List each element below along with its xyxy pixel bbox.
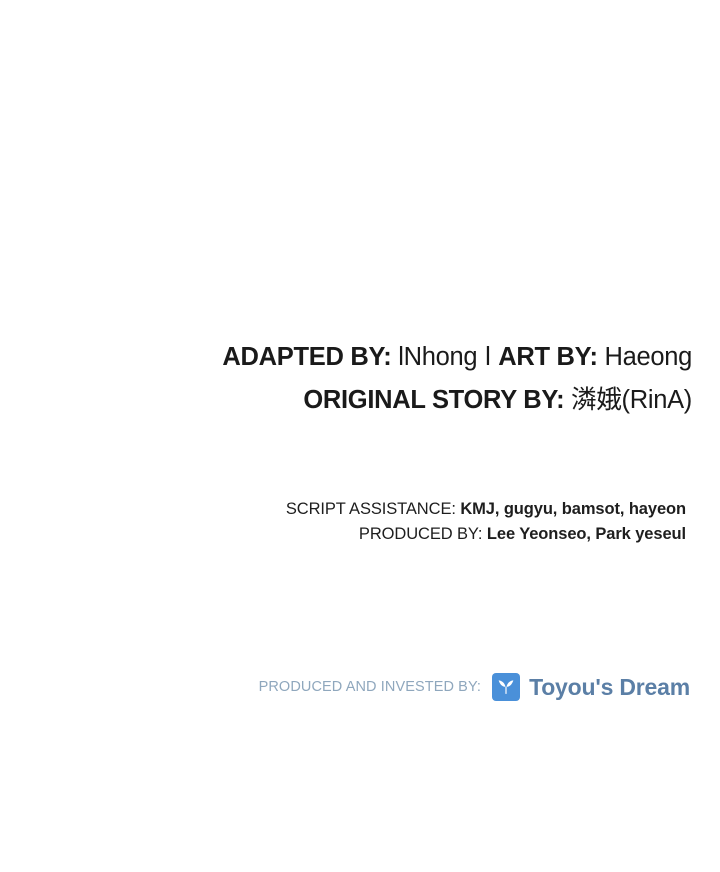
credit-separator: l (484, 343, 491, 371)
art-by-label: ART BY: (498, 343, 597, 371)
credit-line-script-assistance: SCRIPT ASSISTANCE: KMJ, gugyu, bamsot, h… (0, 497, 686, 522)
original-story-by-label: ORIGINAL STORY BY: (303, 386, 564, 414)
sub-credits-block: SCRIPT ASSISTANCE: KMJ, gugyu, bamsot, h… (0, 497, 686, 547)
credits-page: ADAPTED BY: lNhong l ART BY: Haeong ORIG… (0, 0, 720, 872)
art-by-value: Haeong (604, 343, 692, 371)
adapted-by-label: ADAPTED BY: (222, 343, 391, 371)
whale-tail-icon (492, 673, 520, 701)
investor-footer: PRODUCED AND INVESTED BY: Toyou's Dream (0, 673, 690, 701)
script-assistance-value: KMJ, gugyu, bamsot, hayeon (460, 500, 686, 518)
adapted-by-value: lNhong (398, 343, 477, 371)
produced-by-label: PRODUCED BY: (359, 525, 483, 543)
original-story-by-value: 潾娥(RinA) (571, 386, 692, 414)
script-assistance-label: SCRIPT ASSISTANCE: (286, 500, 456, 518)
credit-line-produced-by: PRODUCED BY: Lee Yeonseo, Park yeseul (0, 522, 686, 547)
produced-and-invested-by-label: PRODUCED AND INVESTED BY: (259, 679, 481, 695)
credit-line-original-story: ORIGINAL STORY BY: 潾娥(RinA) (0, 379, 692, 422)
produced-by-value: Lee Yeonseo, Park yeseul (487, 525, 686, 543)
brand-name-toyous-dream: Toyou's Dream (529, 674, 690, 701)
main-credits-block: ADAPTED BY: lNhong l ART BY: Haeong ORIG… (0, 336, 692, 422)
credit-line-adapted-art: ADAPTED BY: lNhong l ART BY: Haeong (0, 336, 692, 379)
